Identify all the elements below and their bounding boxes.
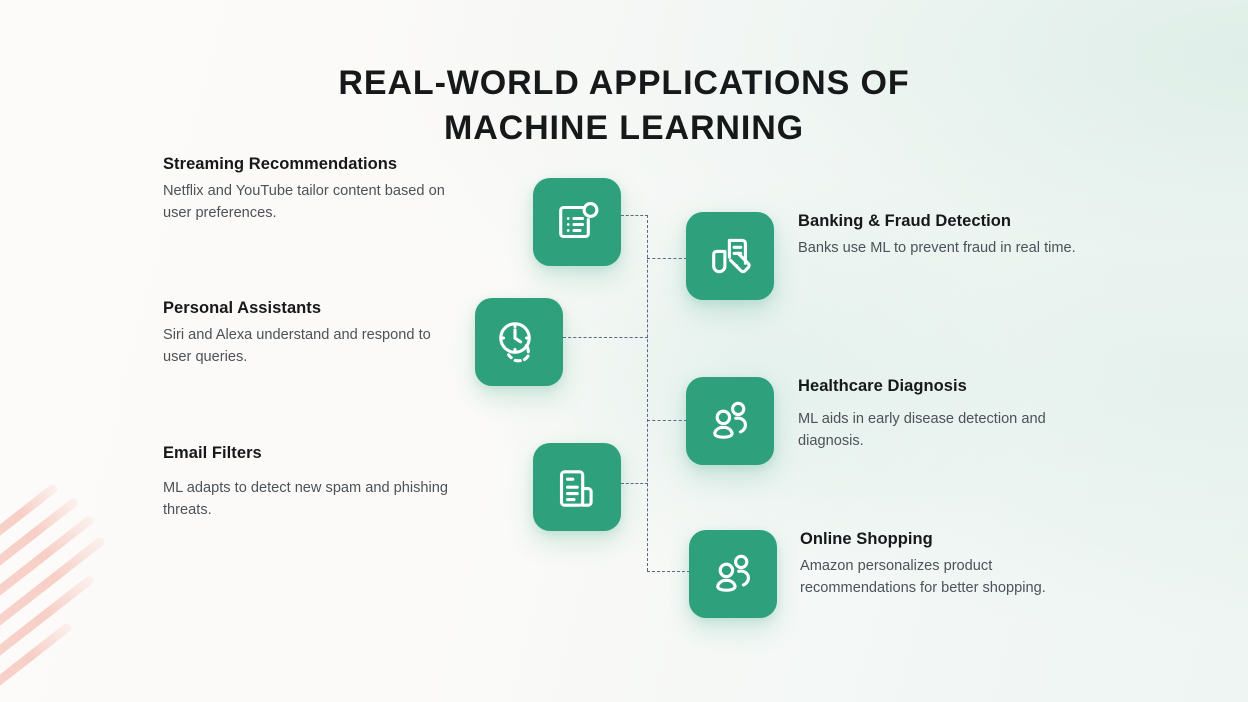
item-description: ML aids in early disease detection and d… — [798, 409, 1094, 452]
icon-tile-healthcare-diagnosis[interactable] — [686, 377, 774, 465]
icon-tile-banking-fraud-detection[interactable] — [686, 212, 774, 300]
item-title: Online Shopping — [800, 529, 1092, 550]
page-title: REAL-WORLD APPLICATIONS OF MACHINE LEARN… — [0, 61, 1248, 151]
connector-branch-streaming — [621, 215, 648, 216]
item-title: Banking & Fraud Detection — [798, 211, 1088, 232]
item-description: Amazon personalizes product recommendati… — [800, 556, 1092, 599]
connector-branch-shopping — [647, 571, 690, 572]
document-pages-icon — [552, 462, 602, 512]
connector-trunk-vertical — [647, 215, 648, 571]
page-title-line-2: MACHINE LEARNING — [0, 106, 1248, 151]
icon-tile-personal-assistants[interactable] — [475, 298, 563, 386]
item-title: Email Filters — [163, 443, 449, 464]
connector-branch-email — [621, 483, 648, 484]
text-block-healthcare-diagnosis: Healthcare Diagnosis ML aids in early di… — [798, 376, 1094, 452]
item-title: Healthcare Diagnosis — [798, 376, 1094, 397]
decorative-stripes — [0, 556, 168, 702]
users-group-icon — [708, 549, 758, 599]
users-group-icon — [705, 396, 755, 446]
clock-history-icon — [494, 317, 544, 367]
icon-tile-online-shopping[interactable] — [689, 530, 777, 618]
item-title: Personal Assistants — [163, 298, 455, 319]
text-block-email-filters: Email Filters ML adapts to detect new sp… — [163, 443, 449, 521]
text-block-personal-assistants: Personal Assistants Siri and Alexa under… — [163, 298, 455, 368]
text-block-online-shopping: Online Shopping Amazon personalizes prod… — [800, 529, 1092, 599]
document-tag-icon — [705, 231, 755, 281]
connector-branch-healthcare — [647, 420, 687, 421]
icon-tile-email-filters[interactable] — [533, 443, 621, 531]
page-title-line-1: REAL-WORLD APPLICATIONS OF — [0, 61, 1248, 106]
connector-branch-assistants — [563, 337, 648, 338]
connector-branch-banking — [647, 258, 687, 259]
item-description: Banks use ML to prevent fraud in real ti… — [798, 238, 1088, 260]
list-document-badge-icon — [552, 197, 602, 247]
text-block-streaming-recommendations: Streaming Recommendations Netflix and Yo… — [163, 154, 449, 224]
item-description: Netflix and YouTube tailor content based… — [163, 181, 449, 224]
text-block-banking-fraud-detection: Banking & Fraud Detection Banks use ML t… — [798, 211, 1088, 260]
item-title: Streaming Recommendations — [163, 154, 449, 175]
item-description: Siri and Alexa understand and respond to… — [163, 325, 455, 368]
item-description: ML adapts to detect new spam and phishin… — [163, 478, 449, 521]
infographic-canvas: REAL-WORLD APPLICATIONS OF MACHINE LEARN… — [0, 0, 1248, 702]
icon-tile-streaming-recommendations[interactable] — [533, 178, 621, 266]
